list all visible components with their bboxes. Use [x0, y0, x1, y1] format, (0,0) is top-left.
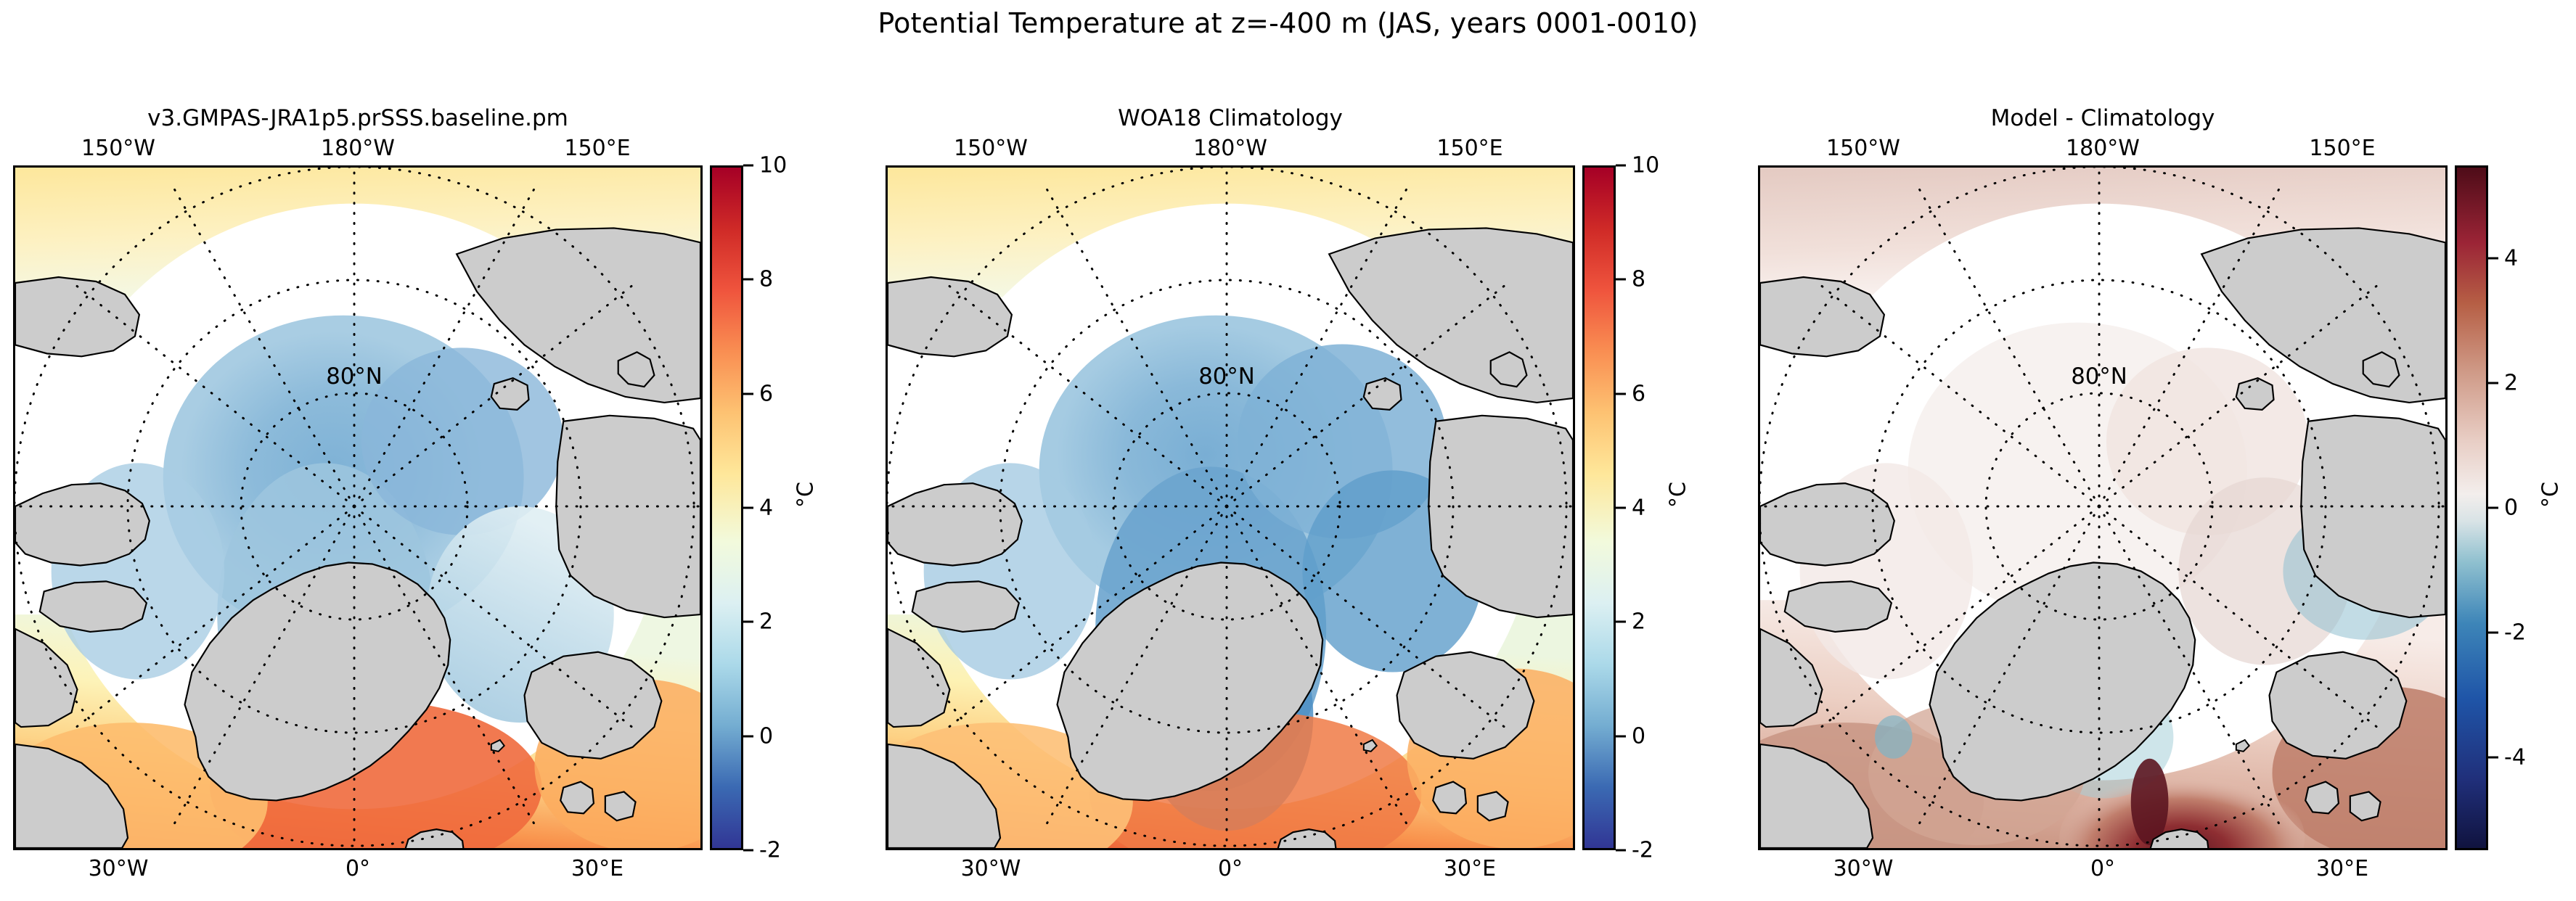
cbar3-tick-neg2: -2	[2504, 620, 2526, 645]
lon-label-top-right-p3: 150°E	[2309, 136, 2375, 161]
cbar1-tick-10: 10	[759, 153, 787, 178]
cbar1-tick-6: 6	[759, 381, 773, 406]
map-axes-climatology[interactable]: 80°N	[886, 165, 1575, 850]
lon-label-bottom-center-p2: 0°	[1218, 856, 1243, 881]
tick-mark	[2488, 756, 2498, 758]
colorbar-model-unit: °C	[793, 482, 819, 508]
lat-label-80n-p2: 80°N	[1198, 363, 1255, 390]
tick-mark	[743, 735, 753, 737]
tick-mark	[2488, 631, 2498, 633]
lon-label-top-center-p2: 180°W	[1193, 136, 1267, 161]
tick-mark	[1616, 392, 1626, 395]
colorbar-difference-bar	[2455, 165, 2488, 850]
lon-label-top-right-p1: 150°E	[564, 136, 630, 161]
lon-label-top-center-p3: 180°W	[2066, 136, 2140, 161]
panel-model: v3.GMPAS-JRA1p5.prSSS.baseline.pm 150°W …	[13, 165, 703, 850]
colorbar-difference[interactable]: 4 2 0 -2 -4 °C	[2455, 165, 2488, 850]
cbar3-tick-neg4: -4	[2504, 744, 2526, 770]
colorbar-climatology-ticks: 10 8 6 4 2 0 -2	[1616, 165, 1710, 850]
lon-label-bottom-left-p1: 30°W	[89, 856, 149, 881]
lon-label-bottom-center-p3: 0°	[2090, 856, 2115, 881]
lon-label-top-right-p2: 150°E	[1436, 136, 1502, 161]
colorbar-model-gradient	[712, 168, 741, 848]
tick-mark	[2488, 382, 2498, 384]
colorbar-model[interactable]: 10 8 6 4 2 0 -2 °C	[710, 165, 743, 850]
figure-canvas: Potential Temperature at z=-400 m (JAS, …	[0, 0, 2576, 901]
tick-mark	[743, 507, 753, 509]
colorbar-difference-ticks: 4 2 0 -2 -4	[2488, 165, 2576, 850]
cbar3-tick-2: 2	[2504, 371, 2518, 396]
map-svg-difference: 80°N	[1760, 168, 2445, 848]
colorbar-climatology[interactable]: 10 8 6 4 2 0 -2 °C	[1582, 165, 1616, 850]
tick-mark	[2488, 258, 2498, 260]
cbar2-tick-4: 4	[1632, 495, 1645, 521]
lon-label-bottom-left-p2: 30°W	[961, 856, 1021, 881]
figure-suptitle: Potential Temperature at z=-400 m (JAS, …	[0, 7, 2576, 39]
cbar3-tick-4: 4	[2504, 246, 2518, 271]
tick-mark	[1616, 165, 1626, 167]
colorbar-climatology-gradient	[1585, 168, 1614, 848]
cbar1-tick-8: 8	[759, 267, 773, 292]
lat-label-80n-p3: 80°N	[2071, 363, 2127, 390]
tick-mark	[1616, 735, 1626, 737]
tick-mark	[743, 621, 753, 623]
panel-title-climatology: WOA18 Climatology	[886, 105, 1575, 131]
map-axes-model[interactable]: 80°N	[13, 165, 703, 850]
panel-climatology: WOA18 Climatology 150°W 180°W 150°E	[886, 165, 1575, 850]
tick-mark	[743, 392, 753, 395]
map-axes-difference[interactable]: 80°N	[1758, 165, 2448, 850]
cbar2-tick-neg2: -2	[1632, 838, 1653, 863]
colorbar-difference-unit: °C	[2538, 482, 2564, 508]
cbar2-tick-10: 10	[1632, 153, 1659, 178]
cbar1-tick-2: 2	[759, 609, 773, 635]
lon-label-bottom-center-p1: 0°	[345, 856, 370, 881]
lon-label-top-left-p1: 150°W	[81, 136, 155, 161]
cbar2-tick-2: 2	[1632, 609, 1645, 635]
panel-difference: Model - Climatology 150°W 180°W 150°E	[1758, 165, 2448, 850]
map-svg-climatology: 80°N	[888, 168, 1573, 848]
colorbar-climatology-unit: °C	[1666, 482, 1691, 508]
panel-title-model: v3.GMPAS-JRA1p5.prSSS.baseline.pm	[13, 105, 703, 131]
tick-mark	[1616, 507, 1626, 509]
colorbar-difference-gradient	[2457, 168, 2486, 848]
cbar3-tick-0: 0	[2504, 495, 2518, 521]
tick-mark	[743, 279, 753, 281]
tick-mark	[743, 165, 753, 167]
panel-title-difference: Model - Climatology	[1758, 105, 2448, 131]
colorbar-climatology-bar	[1582, 165, 1616, 850]
tick-mark	[2488, 507, 2498, 509]
cbar2-tick-0: 0	[1632, 723, 1645, 749]
lon-label-top-left-p3: 150°W	[1826, 136, 1900, 161]
lon-label-bottom-right-p2: 30°E	[1444, 856, 1496, 881]
cbar1-tick-4: 4	[759, 495, 773, 521]
lon-label-top-left-p2: 150°W	[954, 136, 1028, 161]
lon-label-bottom-right-p1: 30°E	[571, 856, 623, 881]
map-svg-model: 80°N	[15, 168, 700, 848]
lon-label-bottom-right-p3: 30°E	[2316, 856, 2368, 881]
tick-mark	[743, 849, 753, 852]
tick-mark	[1616, 621, 1626, 623]
tick-mark	[1616, 279, 1626, 281]
cbar1-tick-neg2: -2	[759, 838, 781, 863]
lon-label-bottom-left-p3: 30°W	[1833, 856, 1894, 881]
cbar1-tick-0: 0	[759, 723, 773, 749]
colorbar-model-bar	[710, 165, 743, 850]
colorbar-model-ticks: 10 8 6 4 2 0 -2	[743, 165, 838, 850]
lon-label-top-center-p1: 180°W	[321, 136, 395, 161]
cbar2-tick-8: 8	[1632, 267, 1645, 292]
tick-mark	[1616, 849, 1626, 852]
cbar2-tick-6: 6	[1632, 381, 1645, 406]
lat-label-80n-p1: 80°N	[326, 363, 383, 390]
